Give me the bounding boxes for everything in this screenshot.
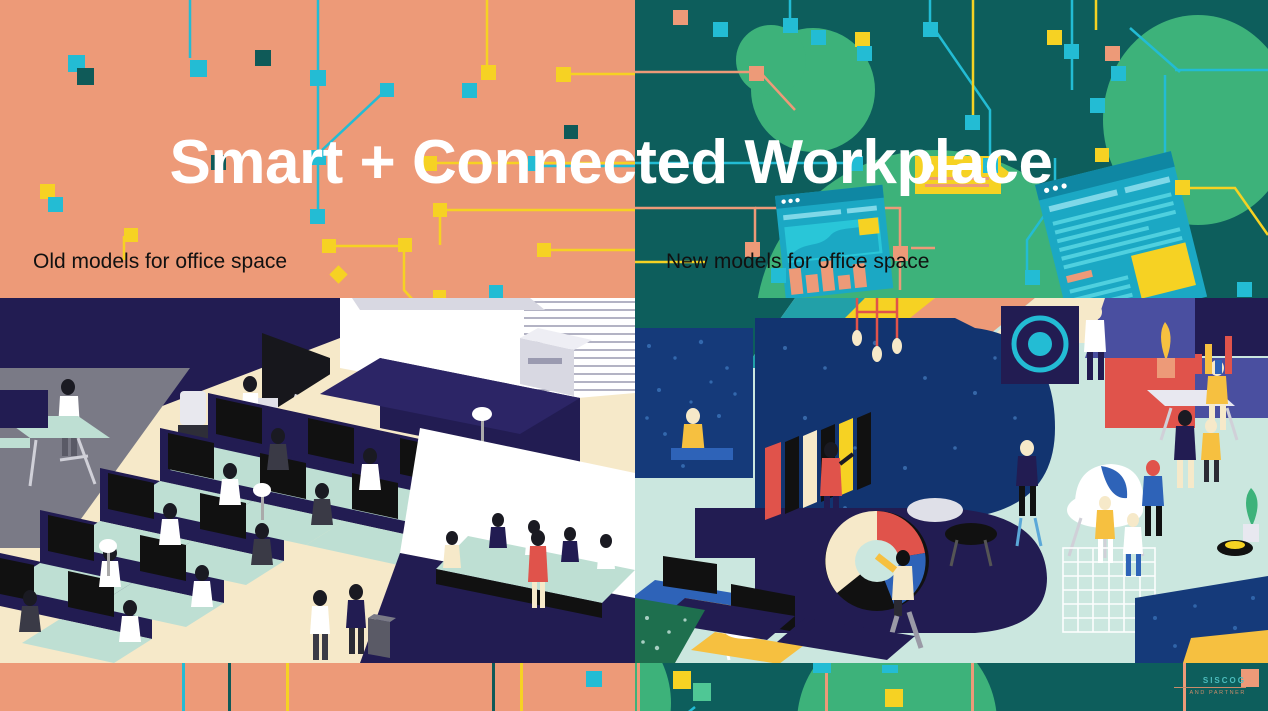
new-office-isometric-art: [635, 298, 1268, 663]
logo-company-name: SISCOG: [1174, 676, 1246, 686]
logo-tagline: AND PARTNER: [1174, 689, 1246, 697]
page-title: Smart + Connected Workplace: [0, 130, 1268, 195]
bottom-strip-left: [0, 663, 635, 711]
logo-divider: [1174, 687, 1246, 688]
old-office-isometric-art: [0, 298, 635, 663]
illustration-old-office: [0, 298, 635, 663]
illustration-new-office: [635, 298, 1268, 663]
slide-canvas: Smart + Connected Workplace Old models f…: [0, 0, 1268, 711]
illustration-band: [0, 298, 1268, 663]
bottom-strip: SISCOG AND PARTNER: [0, 663, 1268, 711]
bottom-strip-left-lines: [0, 663, 635, 711]
brand-logo: SISCOG AND PARTNER: [1174, 676, 1246, 697]
right-panel-subtitle: New models for office space: [666, 250, 929, 274]
left-panel-subtitle: Old models for office space: [33, 250, 287, 274]
